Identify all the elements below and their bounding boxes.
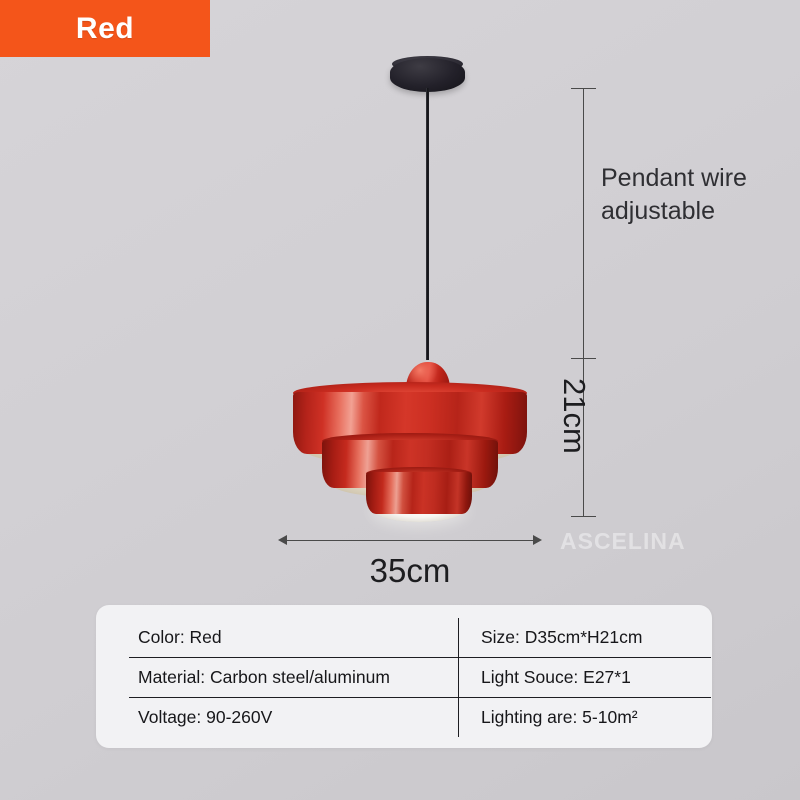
spec-light-source: Light Souce: E27*1 (459, 658, 712, 698)
vertical-dimension-tick-top (571, 88, 596, 89)
pendant-cord (426, 88, 429, 360)
height-dimension-label: 21cm (556, 378, 592, 454)
specification-table: Color: Red Size: D35cm*H21cm Material: C… (129, 618, 711, 737)
spec-material: Material: Carbon steel/aluminum (129, 658, 459, 698)
pendant-wire-note: Pendant wire adjustable (601, 162, 791, 228)
table-row: Voltage: 90-260V Lighting are: 5-10m² (129, 698, 711, 738)
vertical-dimension-tick-bottom (571, 516, 596, 517)
vertical-dimension-tick-middle (571, 358, 596, 359)
dimension-arrow-left-icon (278, 535, 287, 545)
spec-size: Size: D35cm*H21cm (459, 618, 712, 658)
table-row: Color: Red Size: D35cm*H21cm (129, 618, 711, 658)
spec-color: Color: Red (129, 618, 459, 658)
horizontal-dimension-line (282, 540, 538, 541)
product-image: Red ASCELINA Pendant wire adjustable 21c… (0, 0, 800, 800)
spec-voltage: Voltage: 90-260V (129, 698, 459, 738)
spec-lighting-area: Lighting are: 5-10m² (459, 698, 712, 738)
dimension-arrow-right-icon (533, 535, 542, 545)
diameter-dimension-label: 35cm (282, 552, 538, 590)
specification-card: Color: Red Size: D35cm*H21cm Material: C… (96, 605, 712, 748)
pendant-lamp-illustration (0, 0, 800, 620)
lamp-tier3-shade (366, 472, 472, 514)
table-row: Material: Carbon steel/aluminum Light So… (129, 658, 711, 698)
ceiling-canopy (390, 58, 465, 92)
